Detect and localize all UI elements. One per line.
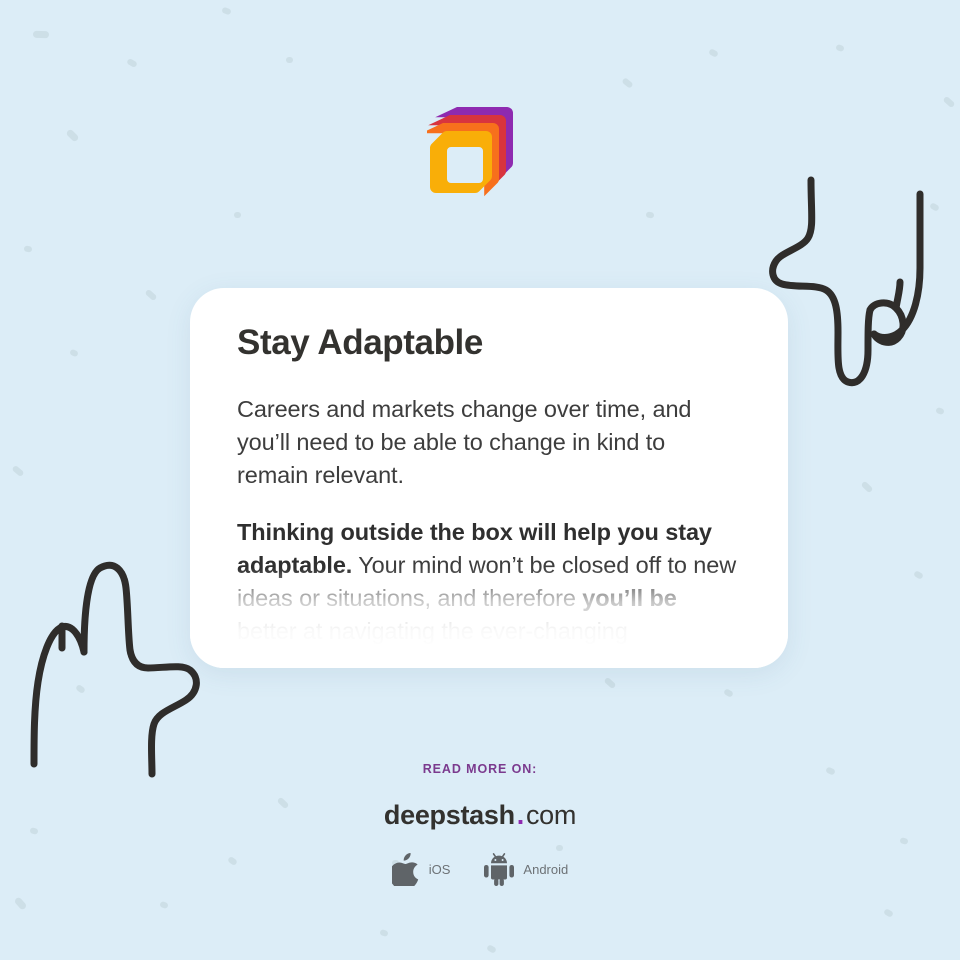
brand-url[interactable]: deepstash.com [0,800,960,831]
confetti-dot [929,202,940,212]
confetti-dot [835,44,845,52]
confetti-dot [379,929,388,937]
confetti-dot [286,57,293,63]
idea-card: Stay Adaptable Careers and markets chang… [190,288,788,668]
deepstash-logo [427,103,519,199]
read-more-on-label: READ MORE ON: [0,762,960,776]
android-badge[interactable]: Android [484,853,568,886]
confetti-dot [126,58,138,68]
pointing-hand-outline-icon [18,552,213,787]
confetti-dot [145,289,158,301]
brand-tld: com [526,800,576,830]
confetti-dot [646,211,655,218]
confetti-dot [943,96,956,108]
layer-amber [430,131,492,193]
card-paragraph-2-bold-tail: you’ll be [582,585,676,611]
confetti-dot [621,77,633,89]
card-paragraph-2: Thinking outside the box will help you s… [237,516,741,648]
confetti-dot [11,465,24,477]
confetti-dot [14,896,28,910]
ios-label: iOS [429,862,451,877]
confetti-dot [935,407,945,415]
poster-canvas: Stay Adaptable Careers and markets chang… [0,0,960,960]
confetti-dot [75,684,86,694]
hand-bottom-left-path [18,552,213,787]
confetti-dot [69,349,79,358]
android-icon [484,853,514,886]
confetti-dot [723,688,734,698]
footer: READ MORE ON: deepstash.com iOS [0,762,960,886]
confetti-dot [708,48,719,58]
confetti-dot [234,212,241,218]
brand-name: deepstash [384,800,515,830]
confetti-dot [861,481,874,494]
confetti-dot [159,901,169,909]
brand-dot: . [515,800,526,830]
card-content: Stay Adaptable Careers and markets chang… [190,288,788,648]
card-paragraph-1: Careers and markets change over time, an… [237,393,741,492]
confetti-dot [604,677,617,689]
android-label: Android [523,862,568,877]
apple-icon [392,853,420,886]
confetti-dot [65,128,79,142]
page-title: Stay Adaptable [237,324,741,363]
confetti-dot [913,570,924,580]
confetti-dot [33,31,49,39]
confetti-dot [486,944,497,954]
app-store-badges: iOS Android [0,853,960,886]
confetti-dot [883,908,894,918]
confetti-dot [24,245,33,252]
logo-stacked-squares-icon [427,103,519,199]
ios-badge[interactable]: iOS [392,853,451,886]
card-paragraph-2-faded-tail: better at navigating the ever-changing [237,618,628,644]
confetti-dot [221,7,232,16]
